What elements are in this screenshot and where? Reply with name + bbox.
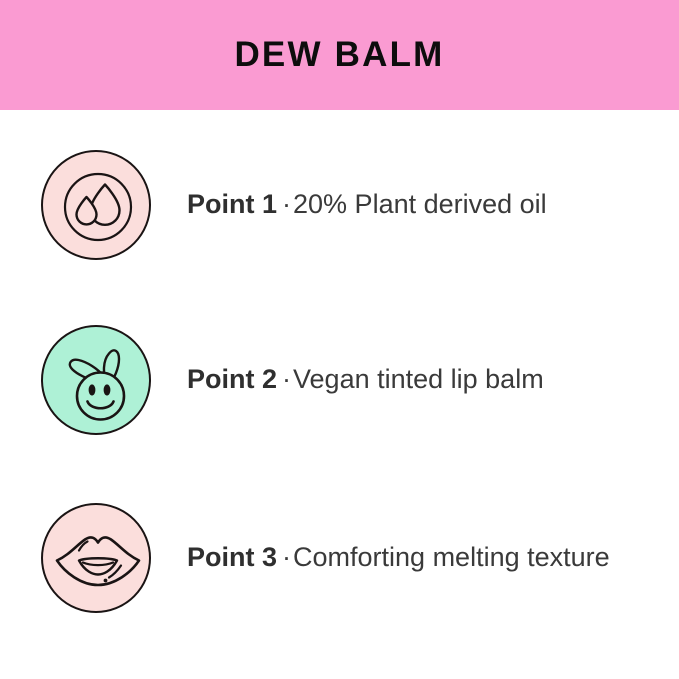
list-item: Point 1·20% Plant derived oil (41, 150, 661, 260)
point-label: Point 1 (187, 189, 277, 219)
point-separator: · (277, 542, 293, 572)
list-item-text: Point 1·20% Plant derived oil (187, 190, 547, 220)
list-item: Point 2·Vegan tinted lip balm (41, 325, 661, 435)
points-list: Point 1·20% Plant derived oil (0, 110, 679, 679)
page-title: DEW BALM (234, 37, 444, 74)
list-item-text: Point 3·Comforting melting texture (187, 543, 610, 573)
header-banner: DEW BALM (0, 0, 679, 110)
point-description: Comforting melting texture (293, 542, 610, 572)
smiling-lips-icon (41, 503, 151, 613)
water-droplets-icon (41, 150, 151, 260)
point-label: Point 2 (187, 364, 277, 394)
point-description: Vegan tinted lip balm (293, 364, 544, 394)
point-separator: · (277, 189, 293, 219)
list-item-text: Point 2·Vegan tinted lip balm (187, 365, 544, 395)
point-label: Point 3 (187, 542, 277, 572)
product-feature-card: DEW BALM Point 1·20% Plant derived oil (0, 0, 679, 679)
list-item: Point 3·Comforting melting texture (41, 503, 661, 613)
point-description: 20% Plant derived oil (293, 189, 547, 219)
bunny-smiley-icon (41, 325, 151, 435)
point-separator: · (277, 364, 293, 394)
